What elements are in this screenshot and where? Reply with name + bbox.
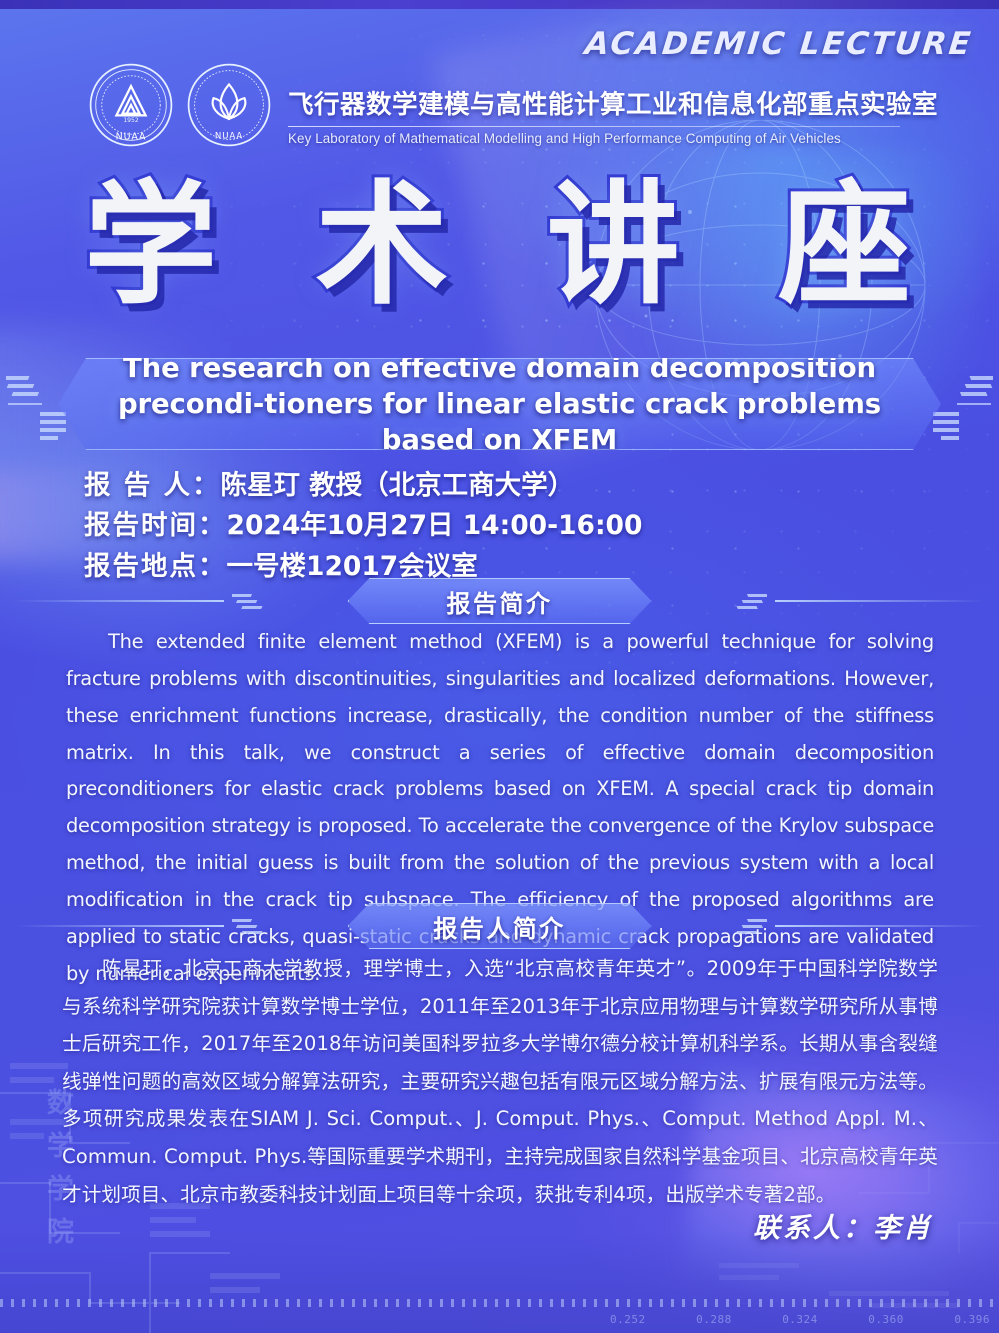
- abstract-heading-text: 报告简介: [447, 584, 553, 619]
- banner-line-right: [775, 600, 985, 602]
- svg-text:NUAA: NUAA: [116, 131, 147, 142]
- section-banner-abstract: 报告简介: [0, 578, 999, 624]
- nuaa-seal-logo-icon: 1952 NUAA: [88, 62, 174, 148]
- banner-tick-left-icon: [232, 590, 288, 614]
- speaker-line: 报 告 人：陈星玎 教授（北京工商大学）: [84, 466, 642, 506]
- lab-name-cn: 飞行器数学建模与高性能计算工业和信息化部重点实验室: [288, 84, 900, 121]
- tick-number: 0.396: [954, 1313, 990, 1326]
- laboratory-title: 飞行器数学建模与高性能计算工业和信息化部重点实验室 Key Laboratory…: [288, 84, 900, 146]
- contact-person: 联系人：李肖: [753, 1206, 933, 1245]
- time-label: 报告时间：: [84, 510, 227, 541]
- lecture-poster: ACADEMIC LECTURE 1952 NUAA: [0, 0, 999, 1333]
- location-value: 一号楼12017会议室: [227, 551, 478, 582]
- nuaa-emblem-logo-icon: NUAA: [186, 62, 272, 148]
- section-banner-bio: 报告人简介: [0, 903, 999, 949]
- banner-line-left: [14, 600, 224, 602]
- banner-tick-right-icon: [711, 590, 767, 614]
- banner-tick-left-icon: [232, 915, 288, 939]
- speaker-label: 报 告 人：: [84, 470, 220, 501]
- svg-text:1952: 1952: [123, 117, 138, 124]
- logo-group: 1952 NUAA NUAA: [88, 62, 272, 148]
- tick-number: 0.288: [696, 1313, 732, 1326]
- talk-title-plate: The research on effective domain decompo…: [58, 358, 941, 450]
- tick-number: 0.252: [610, 1313, 646, 1326]
- banner-line-right: [775, 925, 985, 927]
- time-line: 报告时间：2024年10月27日 14:00-16:00: [84, 506, 642, 546]
- bottom-tick-strip-decor: [0, 1299, 999, 1307]
- department-watermark: 数学学院: [44, 1088, 71, 1260]
- bio-heading-chip: 报告人简介: [348, 903, 652, 949]
- time-value: 2024年10月27日 14:00-16:00: [227, 510, 643, 541]
- banner-line-left: [14, 925, 224, 927]
- lab-divider: [288, 126, 900, 127]
- lecture-details: 报 告 人：陈星玎 教授（北京工商大学） 报告时间：2024年10月27日 14…: [84, 466, 642, 587]
- speaker-value: 陈星玎 教授（北京工商大学）: [220, 470, 574, 501]
- tick-number: 0.324: [782, 1313, 818, 1326]
- bio-body: 陈星玎，北京工商大学教授，理学博士，入选“北京高校青年英才”。2009年于中国科…: [62, 950, 938, 1213]
- talk-title-text: The research on effective domain decompo…: [58, 350, 941, 459]
- abstract-heading-chip: 报告简介: [348, 578, 652, 624]
- tick-number: 0.360: [868, 1313, 904, 1326]
- banner-tick-right-icon: [711, 915, 767, 939]
- bottom-tick-numbers: 0.252 0.288 0.324 0.360 0.396: [610, 1313, 990, 1326]
- poster-header: ACADEMIC LECTURE 1952 NUAA: [0, 0, 999, 160]
- location-label: 报告地点：: [84, 551, 227, 582]
- academic-lecture-badge: ACADEMIC LECTURE: [583, 26, 974, 62]
- page-title: 学 术 讲 座: [0, 168, 999, 325]
- talk-title-bar: The research on effective domain decompo…: [0, 352, 999, 456]
- lab-name-en: Key Laboratory of Mathematical Modelling…: [288, 131, 900, 146]
- svg-text:NUAA: NUAA: [215, 132, 243, 142]
- bio-heading-text: 报告人简介: [433, 909, 566, 944]
